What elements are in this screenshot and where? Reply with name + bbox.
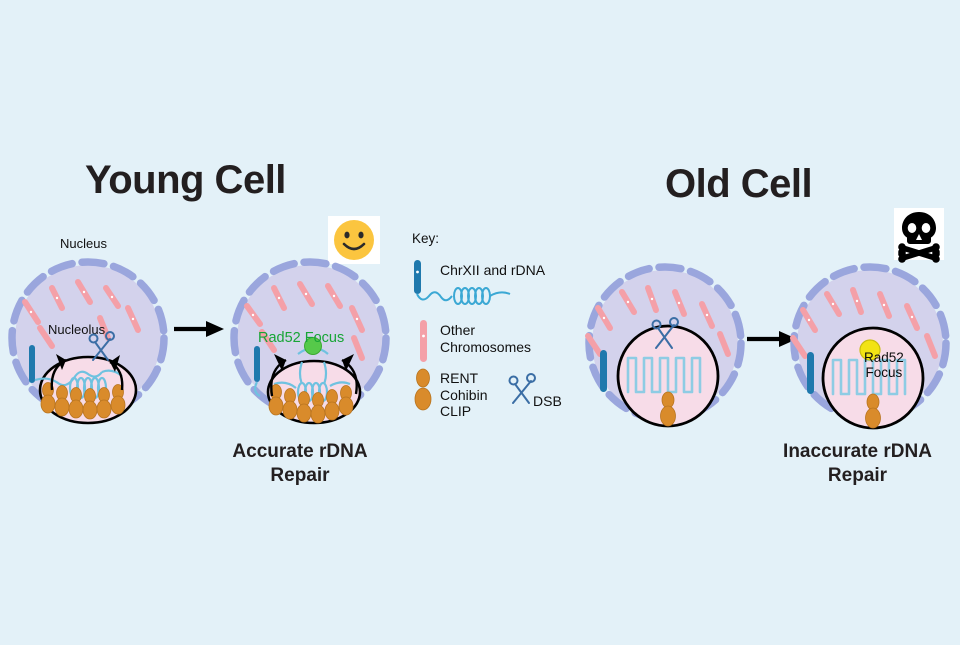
key-label-other-chromosomes: Other Chromosomes bbox=[440, 322, 531, 355]
dsb-scissors-icon-old bbox=[651, 316, 681, 350]
rent-cohibin-clip-icon bbox=[412, 368, 434, 416]
key-label-dsb: DSB bbox=[533, 393, 562, 410]
other-chromosomes-icon bbox=[416, 318, 432, 364]
old-caption-line2: Repair bbox=[755, 464, 960, 488]
rad52-label-old-line2: Focus bbox=[864, 366, 904, 381]
key-label-rent: RENT Cohibin CLIP bbox=[440, 370, 487, 420]
arrow-young-transition bbox=[172, 318, 228, 340]
key-label-rent-line1: RENT bbox=[440, 370, 487, 387]
young-cell-title: Young Cell bbox=[85, 158, 286, 203]
key-item-other-chromosomes bbox=[416, 318, 432, 364]
key-label-rent-line2: Cohibin bbox=[440, 387, 487, 404]
young-caption-line2: Repair bbox=[200, 464, 400, 488]
key-item-rent bbox=[412, 368, 434, 416]
rad52-label-old-line1: Rad52 bbox=[864, 351, 904, 366]
skull-and-crossbones-icon bbox=[894, 208, 944, 260]
key-label-rent-line3: CLIP bbox=[440, 403, 487, 420]
key-heading: Key: bbox=[412, 230, 439, 248]
key-label-other-line1: Other bbox=[440, 322, 531, 339]
young-cell-caption: Accurate rDNA Repair bbox=[200, 440, 400, 489]
old-cell-title: Old Cell bbox=[665, 162, 812, 207]
dsb-scissors-icon-young bbox=[88, 330, 118, 362]
old-cell-caption: Inaccurate rDNA Repair bbox=[755, 440, 960, 489]
nucleus-label: Nucleus bbox=[60, 236, 107, 251]
old-cell-after-diagram bbox=[785, 258, 957, 438]
rad52-focus-label-young: Rad52 Focus bbox=[258, 330, 344, 346]
young-caption-line1: Accurate rDNA bbox=[200, 440, 400, 464]
old-caption-line1: Inaccurate rDNA bbox=[755, 440, 960, 464]
key-label-other-line2: Chromosomes bbox=[440, 339, 531, 356]
figure-canvas: Young Cell Old Cell bbox=[0, 0, 960, 645]
key-label-chrxii: ChrXII and rDNA bbox=[440, 262, 545, 279]
rad52-focus-label-old: Rad52 Focus bbox=[864, 351, 904, 380]
key-heading-text: Key: bbox=[412, 231, 439, 246]
